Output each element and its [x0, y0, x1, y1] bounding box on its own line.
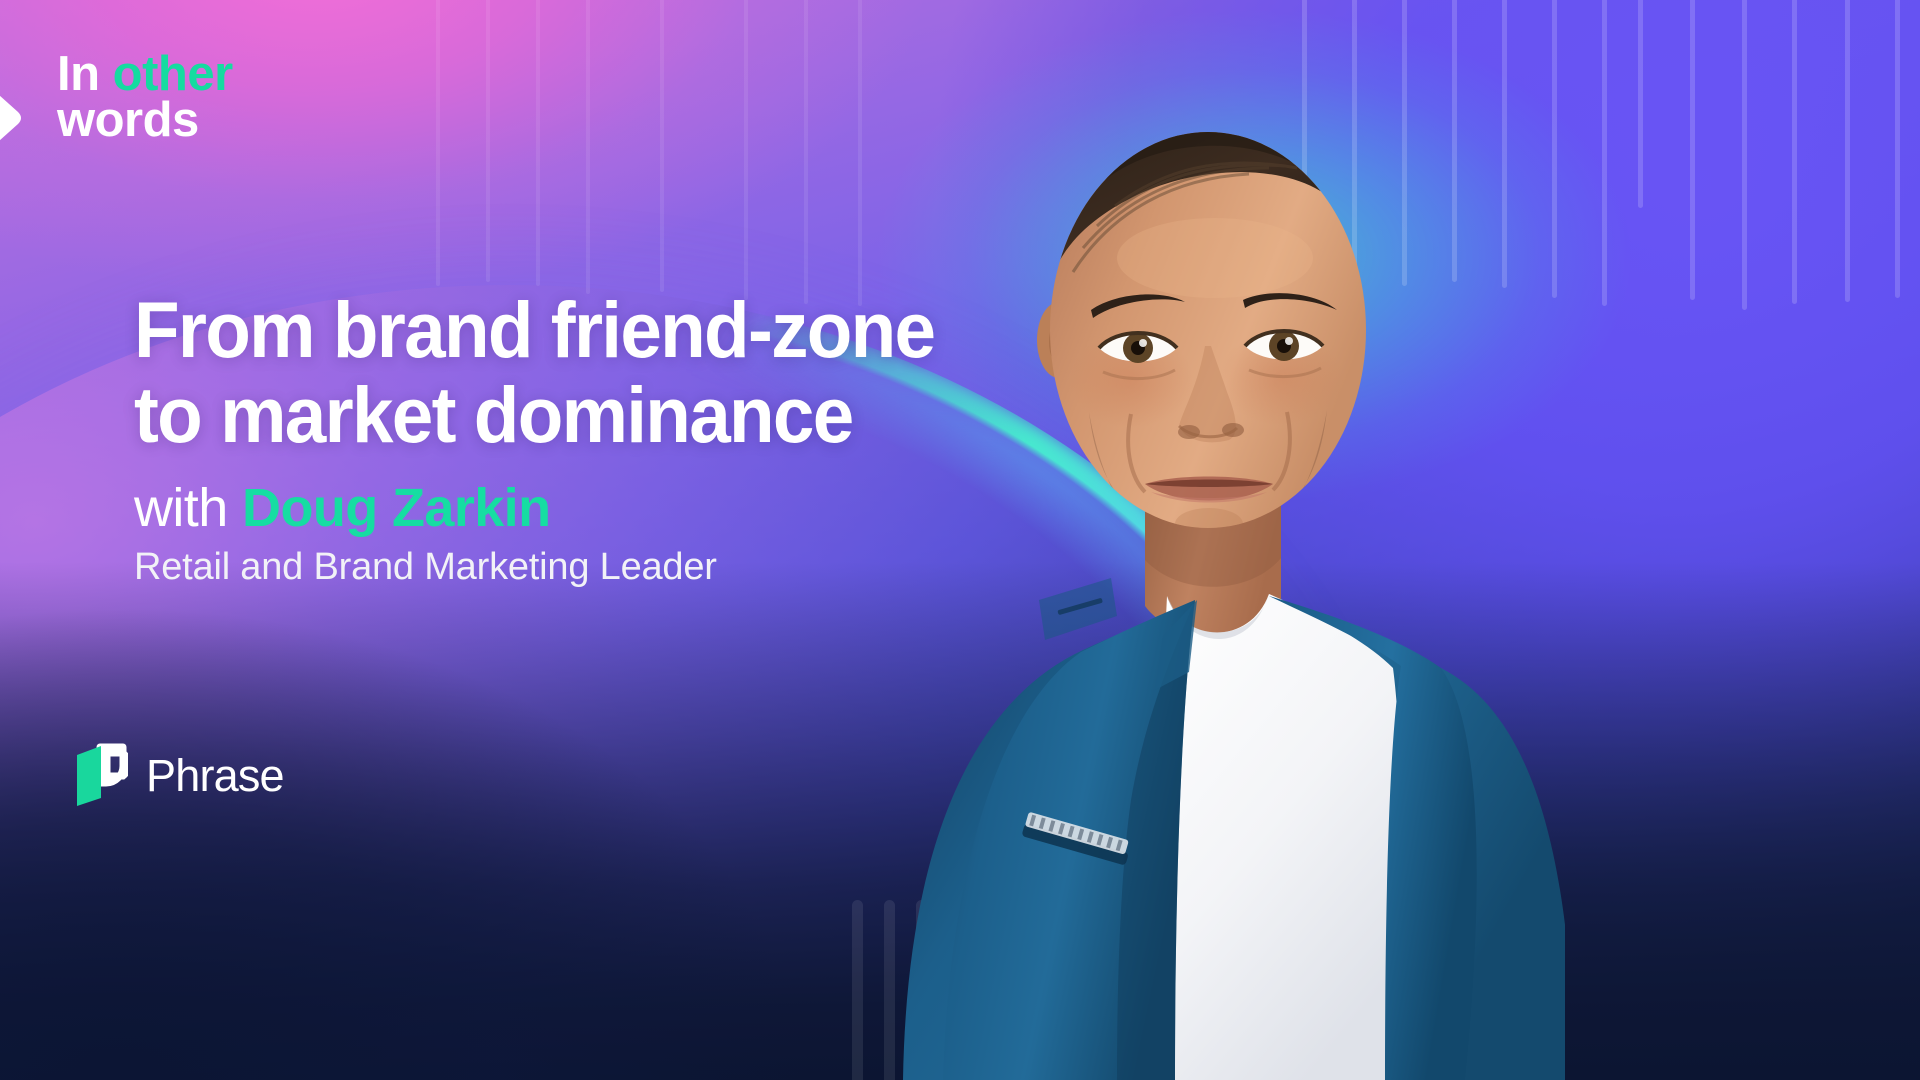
phrase-wordmark: Phrase: [146, 753, 284, 798]
background-pink-bloom: [0, 0, 1920, 1080]
stripe-8: [1690, 0, 1695, 300]
stripe-2: [536, 0, 540, 286]
stripe-6: [804, 0, 808, 304]
headline-block: From brand friend-zone to market dominan…: [134, 288, 1094, 457]
logo-line-2: words: [57, 98, 233, 144]
speaker-portrait-photo: [845, 0, 1565, 1080]
phrase-logo: Phrase: [74, 742, 284, 808]
presenter-name: Doug Zarkin: [242, 478, 550, 538]
background-navy-corner-left: [0, 0, 1920, 1080]
stripe-3: [586, 0, 590, 294]
stripe-11: [1845, 0, 1850, 302]
stripe-2: [916, 900, 927, 1080]
presenter-preposition: with: [134, 478, 228, 538]
stripe-1: [1352, 0, 1357, 298]
stripe-10: [1792, 0, 1797, 304]
background-violet-bloom: [0, 0, 1920, 1080]
vertical-stripes-top-middle: [0, 0, 1920, 1080]
show-logo-in-other-words: In other words: [57, 52, 233, 143]
podcast-cover-graphic: In other words From brand friend-zone to…: [0, 0, 1920, 1080]
stripe-7: [858, 0, 862, 306]
presenter-name-line: with Doug Zarkin: [134, 478, 550, 538]
presenter-role: Retail and Brand Marketing Leader: [134, 546, 717, 589]
background-teal-glow: [0, 0, 1920, 1080]
stripe-9: [1742, 0, 1747, 310]
chevron-right-icon: [0, 62, 24, 174]
stripe-1: [486, 0, 490, 282]
stripe-3: [948, 900, 959, 1080]
stripe-4: [660, 0, 664, 292]
phrase-book-mark-icon: [74, 742, 128, 808]
background-base-gradient: [0, 0, 1920, 1080]
stripe-5: [744, 0, 748, 300]
logo-line-1: In other: [57, 52, 233, 98]
vertical-stripes-top-right: [0, 0, 1920, 1080]
stripe-7: [1638, 0, 1643, 208]
headline-line-1: From brand friend-zone: [134, 288, 1041, 373]
stripe-5: [1552, 0, 1557, 298]
stripe-0: [852, 900, 863, 1080]
stripe-6: [1602, 0, 1607, 306]
stripe-5: [1012, 900, 1023, 1080]
stripe-4: [1502, 0, 1507, 288]
stripe-4: [980, 900, 991, 1080]
headline-line-2: to market dominance: [134, 373, 1041, 458]
vertical-stripes-bottom-middle: [0, 0, 1920, 1080]
stripe-0: [1302, 0, 1307, 316]
stripe-2: [1402, 0, 1407, 286]
stripe-12: [1895, 0, 1900, 298]
stripe-3: [1452, 0, 1457, 282]
background-navy-vignette: [0, 0, 1920, 1080]
stripe-0: [436, 0, 440, 286]
stripe-1: [884, 900, 895, 1080]
